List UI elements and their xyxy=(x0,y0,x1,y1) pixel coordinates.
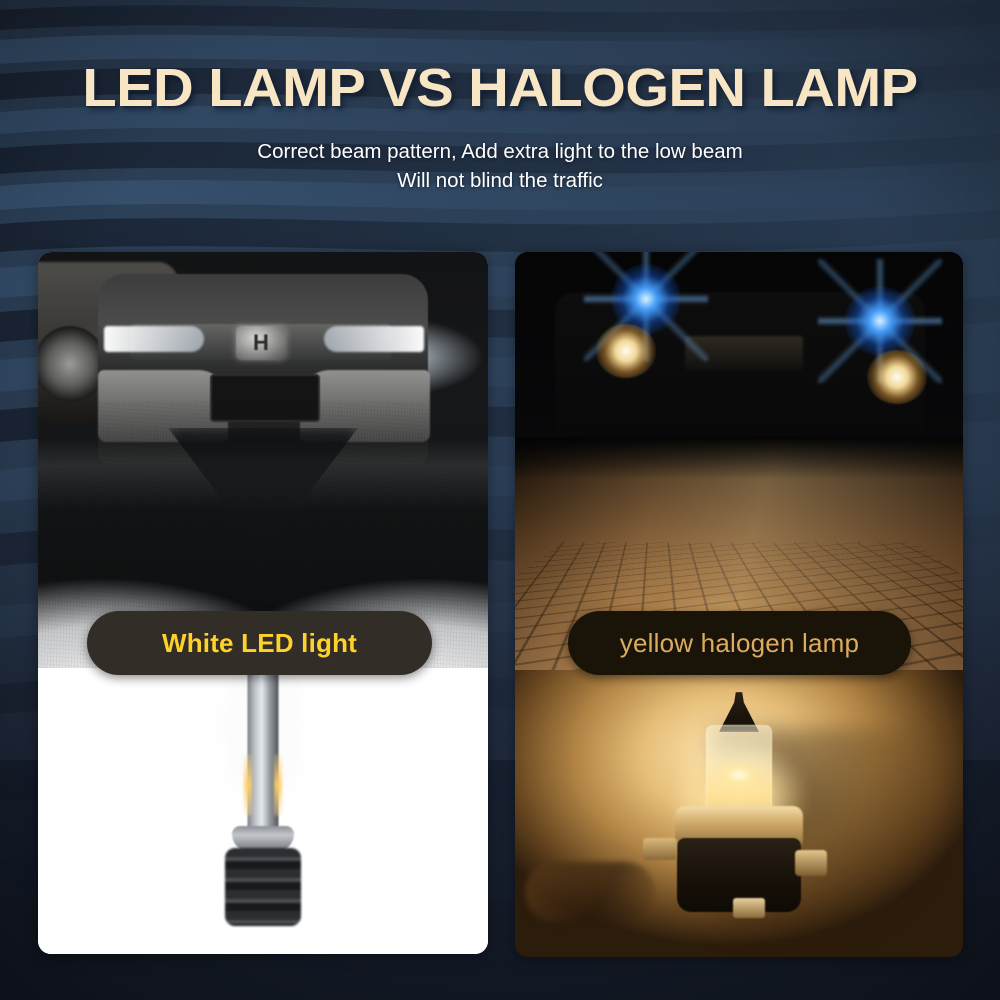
page-title: LED LAMP VS HALOGEN LAMP xyxy=(0,60,1000,117)
halogen-wiring xyxy=(525,862,655,922)
halogen-lamp-left xyxy=(596,324,656,378)
halogen-filament xyxy=(717,758,761,792)
led-headlight-left xyxy=(104,326,204,352)
honda-emblem-icon xyxy=(236,326,286,360)
photo-halogen-bulb xyxy=(515,670,963,957)
subtitle-line-2: Will not blind the traffic xyxy=(0,166,1000,195)
led-bulb-base xyxy=(225,848,301,926)
subtitle-line-1: Correct beam pattern, Add extra light to… xyxy=(257,140,742,163)
halogen-base-tab-right xyxy=(795,850,827,876)
header: LED LAMP VS HALOGEN LAMP Correct beam pa… xyxy=(0,0,1000,225)
brick-shadow-top xyxy=(515,437,963,479)
halogen-base-tab-bottom xyxy=(733,898,765,918)
badge-halogen-label: yellow halogen lamp xyxy=(620,628,859,659)
badge-white-led-light: White LED light xyxy=(87,611,432,675)
panel-led xyxy=(38,252,488,954)
page-subtitle: Correct beam pattern, Add extra light to… xyxy=(0,137,1000,195)
panel-halogen xyxy=(515,252,963,957)
photo-led-night-beam xyxy=(38,252,488,668)
led-chip-right xyxy=(274,754,282,816)
photo-led-bulb xyxy=(38,668,488,954)
halogen-base-tab-left xyxy=(643,838,677,860)
halogen-lamp-right xyxy=(867,350,927,404)
badge-yellow-halogen-lamp: yellow halogen lamp xyxy=(568,611,911,675)
photo-halogen-night-beam xyxy=(515,252,963,670)
led-headlight-right xyxy=(324,326,424,352)
badge-led-label: White LED light xyxy=(162,628,357,659)
blue-accent-light-right xyxy=(845,286,915,356)
led-chip-left xyxy=(244,754,252,816)
